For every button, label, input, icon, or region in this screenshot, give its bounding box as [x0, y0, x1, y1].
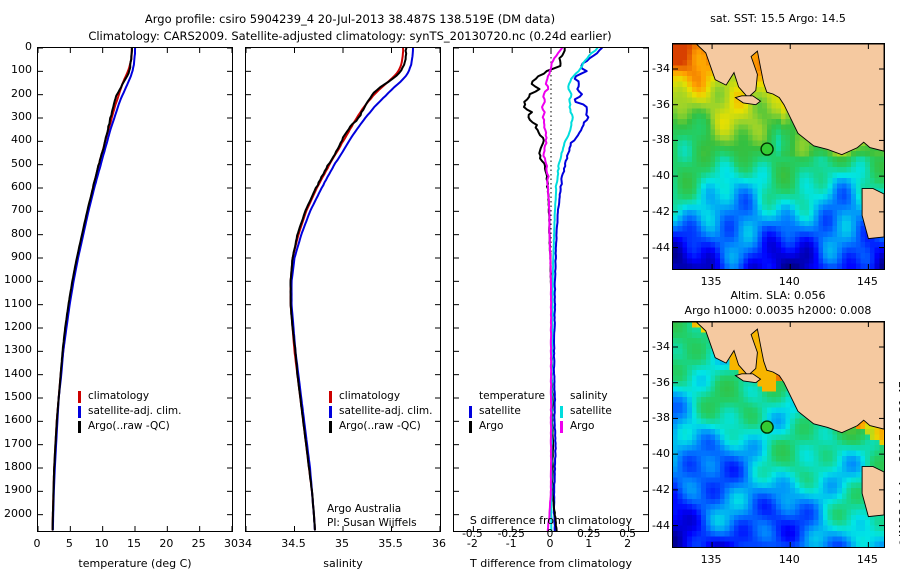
- legend-group-header: temperature: [479, 390, 545, 402]
- tick-label: -38: [640, 133, 670, 146]
- sla-map-title-line1: Altim. SLA: 0.056: [660, 289, 896, 302]
- legend-label: satellite: [570, 405, 612, 417]
- tick-label: -38: [640, 411, 670, 424]
- tick-label: 135: [695, 275, 727, 288]
- tick-label: 35.5: [371, 537, 411, 550]
- legend-group-header: salinity: [570, 390, 608, 402]
- legend-swatch: [560, 406, 563, 418]
- legend-label: climatology: [339, 390, 400, 402]
- tick-label: 200: [0, 87, 32, 100]
- tick-label: 700: [0, 203, 32, 216]
- salinity-plot-canvas: [246, 48, 440, 531]
- temperature-plot-panel: [37, 47, 233, 532]
- tick-label: -0.5: [450, 528, 494, 540]
- tick-label: 1000: [0, 273, 32, 286]
- tick-label: -42: [640, 205, 670, 218]
- tick-label: -36: [640, 98, 670, 111]
- tick-label: -40: [640, 447, 670, 460]
- argo-australia-label: Argo Australia: [327, 503, 401, 515]
- legend-swatch: [329, 391, 332, 403]
- sst-map-panel: [672, 43, 885, 270]
- legend-swatch: [329, 406, 332, 418]
- tick-label: 5: [55, 537, 83, 550]
- legend-label: Argo(..raw -QC): [339, 420, 421, 432]
- legend-label: Argo: [479, 420, 503, 432]
- tick-label: 1300: [0, 343, 32, 356]
- tick-label: 400: [0, 133, 32, 146]
- legend-label: satellite: [479, 405, 521, 417]
- tick-label: 1600: [0, 413, 32, 426]
- tick-label: -0.25: [489, 528, 533, 540]
- difference-plot-canvas: [454, 48, 648, 531]
- pi-name-label: PI: Susan Wijffels: [327, 517, 417, 529]
- tick-label: 34.5: [274, 537, 314, 550]
- tick-label: 140: [773, 553, 805, 566]
- tick-label: 1700: [0, 437, 32, 450]
- tick-label: -34: [640, 340, 670, 353]
- legend-swatch: [329, 421, 332, 433]
- legend-swatch: [78, 391, 81, 403]
- difference-s-axis-label: S difference from climatology: [453, 514, 649, 527]
- tick-label: 2000: [0, 507, 32, 520]
- tick-label: 145: [851, 275, 883, 288]
- tick-label: 600: [0, 180, 32, 193]
- tick-label: 135: [695, 553, 727, 566]
- tick-label: 10: [88, 537, 116, 550]
- tick-label: 500: [0, 157, 32, 170]
- tick-label: 100: [0, 63, 32, 76]
- tick-label: 140: [773, 275, 805, 288]
- legend-label: climatology: [88, 390, 149, 402]
- tick-label: 1200: [0, 320, 32, 333]
- tick-label: 20: [152, 537, 180, 550]
- sst-map-canvas: [673, 44, 884, 269]
- legend-swatch: [78, 421, 81, 433]
- legend-label: Argo(..raw -QC): [88, 420, 170, 432]
- tick-label: 900: [0, 250, 32, 263]
- legend-label: satellite-adj. clim.: [339, 405, 432, 417]
- legend-label: Argo: [570, 420, 594, 432]
- figure-title-line2: Climatology: CARS2009. Satellite-adjuste…: [0, 29, 700, 43]
- tick-label: 1800: [0, 460, 32, 473]
- temperature-plot-canvas: [38, 48, 232, 531]
- legend-swatch: [78, 406, 81, 418]
- legend-swatch: [469, 406, 472, 418]
- legend-label: satellite-adj. clim.: [88, 405, 181, 417]
- tick-label: -36: [640, 376, 670, 389]
- tick-label: 34: [225, 537, 265, 550]
- sla-map-panel: [672, 321, 885, 548]
- tick-label: 300: [0, 110, 32, 123]
- tick-label: 1400: [0, 367, 32, 380]
- tick-label: 15: [120, 537, 148, 550]
- difference-t-axis-label: T difference from climatology: [453, 557, 649, 570]
- tick-label: -34: [640, 62, 670, 75]
- tick-label: 0.25: [567, 528, 611, 540]
- tick-label: 1100: [0, 297, 32, 310]
- difference-plot-panel: [453, 47, 649, 532]
- tick-label: 0: [0, 40, 32, 53]
- legend-swatch: [469, 421, 472, 433]
- tick-label: 145: [851, 553, 883, 566]
- temperature-x-axis-label: temperature (deg C): [37, 557, 233, 570]
- tick-label: 0: [528, 528, 572, 540]
- tick-label: 0: [23, 537, 51, 550]
- salinity-x-axis-label: salinity: [245, 557, 441, 570]
- legend-swatch: [560, 421, 563, 433]
- figure-title-line1: Argo profile: csiro 5904239_4 20-Jul-201…: [0, 12, 700, 26]
- tick-label: -44: [640, 519, 670, 532]
- tick-label: 1900: [0, 483, 32, 496]
- sla-map-canvas: [673, 322, 884, 547]
- sla-map-title-line2: Argo h1000: 0.0035 h2000: 0.008: [655, 304, 900, 317]
- salinity-plot-panel: [245, 47, 441, 532]
- tick-label: -40: [640, 169, 670, 182]
- tick-label: -42: [640, 483, 670, 496]
- tick-label: 1500: [0, 390, 32, 403]
- tick-label: 25: [185, 537, 213, 550]
- tick-label: 800: [0, 227, 32, 240]
- tick-label: 35: [322, 537, 362, 550]
- sst-map-title: sat. SST: 15.5 Argo: 14.5: [660, 12, 896, 25]
- tick-label: -44: [640, 241, 670, 254]
